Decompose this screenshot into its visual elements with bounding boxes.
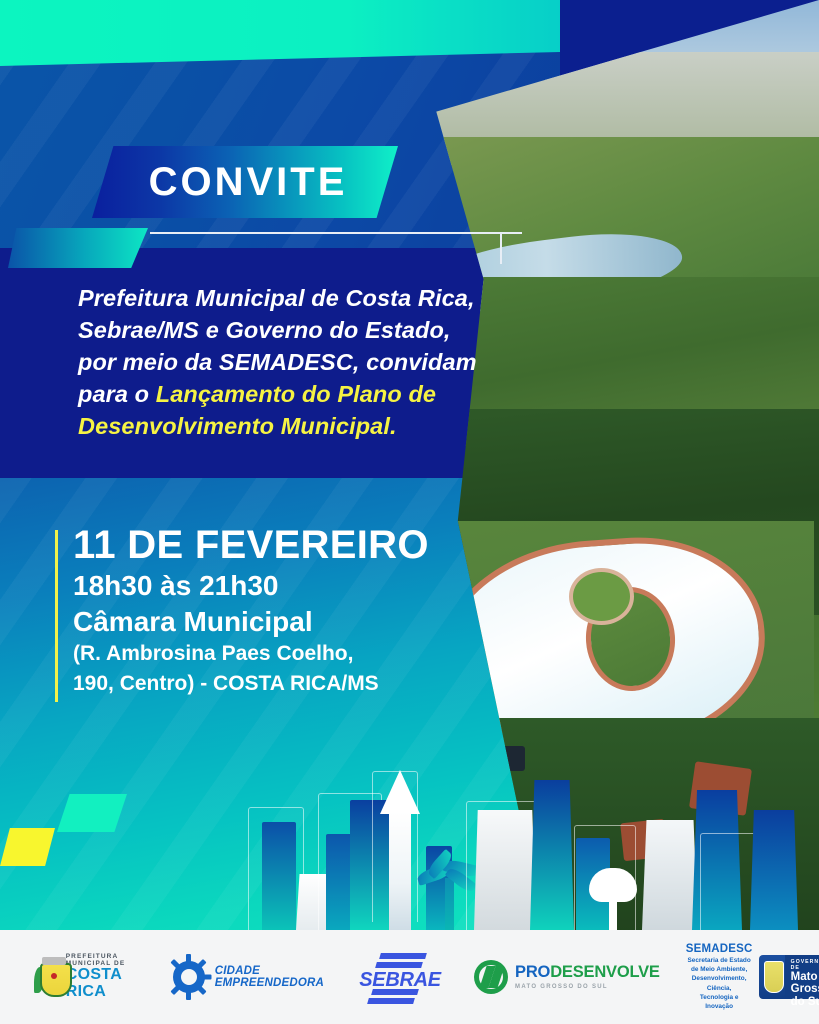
semadesc-sub-4: Tecnologia e Inovação [686, 993, 753, 1011]
semadesc-sub-1: Secretaria de Estado [686, 956, 753, 965]
building [750, 810, 798, 930]
prodesenvolve-des: DESENVOLVE [550, 963, 660, 981]
event-address-line-1: (R. Ambrosina Paes Coelho, [73, 641, 493, 667]
tree-trunk [609, 900, 617, 930]
palm-trunk [445, 878, 454, 930]
building [474, 810, 536, 930]
burst-ray [186, 988, 191, 1000]
semadesc-sub-2: de Meio Ambiente, [686, 965, 753, 974]
semadesc-subtitle: Secretaria de Estado de Meio Ambiente, D… [686, 956, 753, 1011]
ms-crest-shield [764, 961, 784, 993]
prodesenvolve-main: PRODESENVOLVE [515, 964, 660, 981]
divider-rule-vertical [500, 232, 502, 264]
sebrae-bar [367, 998, 415, 1004]
ms-line-3: do Sul [791, 996, 819, 1008]
ce-line-1: CIDADE [215, 965, 324, 977]
prodesenvolve-wordmark: PRODESENVOLVE MATO GROSSO DO SUL [515, 964, 660, 990]
cidade-empreendedora-wordmark: CIDADE EMPREENDEDORA [215, 965, 324, 990]
logo-prefeitura-costa-rica: PREFEITURA MUNICIPAL DE COSTA RICA [34, 953, 137, 1001]
event-venue: Câmara Municipal [73, 605, 493, 639]
logo-row: PREFEITURA MUNICIPAL DE COSTA RICA CIDAD… [0, 930, 819, 1024]
logo-sebrae: SEBRAE [354, 953, 446, 1001]
logo-cidade-empreendedora: CIDADE EMPREENDEDORA [169, 957, 324, 997]
burst-ray [186, 954, 191, 966]
event-address-line-2: 190, Centro) - COSTA RICA/MS [73, 671, 493, 697]
city-skyline-illustration [230, 750, 819, 930]
convite-banner: CONVITE [92, 146, 398, 218]
event-details: 11 DE FEVEREIRO 18h30 às 21h30 Câmara Mu… [73, 524, 493, 697]
prodesenvolve-icon [474, 960, 508, 994]
ms-line-1: Mato [791, 971, 819, 983]
invitation-paragraph: Prefeitura Municipal de Costa Rica, Sebr… [78, 283, 548, 443]
coat-emblem [51, 973, 57, 979]
footer-logo-bar: PREFEITURA MUNICIPAL DE COSTA RICA CIDAD… [0, 930, 819, 1024]
coat-crown [42, 957, 66, 965]
convite-label: CONVITE [92, 146, 398, 218]
prodesenvolve-sub: MATO GROSSO DO SUL [515, 984, 660, 990]
building [530, 780, 574, 930]
tree-canopy [589, 868, 637, 902]
invite-line-3: por meio da SEMADESC, convidam [78, 347, 548, 379]
logo-prodesenvolve: PRODESENVOLVE MATO GROSSO DO SUL [474, 960, 660, 994]
accent-parallelogram-teal [8, 228, 148, 268]
arrow-outline [372, 771, 418, 922]
semadesc-sub-3: Desenvolvimento, Ciência, [686, 974, 753, 992]
event-time: 18h30 às 21h30 [73, 569, 493, 603]
invite-line-1: Prefeitura Municipal de Costa Rica, [78, 283, 548, 315]
photo-pool-island [569, 568, 634, 625]
ms-wordmark: GOVERNO DE Mato Grosso do Sul [785, 955, 819, 999]
invite-line-4: para o Lançamento do Plano de [78, 379, 548, 411]
burst-ray [170, 959, 182, 971]
invitation-poster: CONVITE Prefeitura Municipal de Costa Ri… [0, 0, 819, 1024]
yellow-accent-bar [55, 530, 58, 702]
coat-shield [40, 963, 72, 997]
prefeitura-main-text: COSTA RICA [66, 967, 137, 1001]
event-date: 11 DE FEVEREIRO [73, 524, 493, 567]
burst-ring-icon [169, 957, 209, 997]
governo-ms-logo: GOVERNO DE Mato Grosso do Sul [759, 955, 819, 999]
sebrae-bar [375, 962, 423, 968]
burst-ray [199, 975, 211, 980]
tree-icon [585, 868, 641, 930]
ms-governo-label: GOVERNO DE [791, 959, 819, 971]
divider-rule [150, 232, 522, 234]
invite-line-5-highlight: Desenvolvimento Municipal. [78, 411, 548, 443]
prefeitura-top-text: PREFEITURA MUNICIPAL DE [66, 953, 137, 967]
burst-ray [194, 983, 206, 995]
ms-crest-icon [759, 955, 785, 999]
building [642, 820, 698, 930]
invite-line-2: Sebrae/MS e Governo do Estado, [78, 315, 548, 347]
sebrae-bar [379, 953, 427, 959]
sebrae-bar [371, 989, 419, 995]
logo-semadesc-governo-ms: SEMADESC Secretaria de Estado de Meio Am… [686, 943, 819, 1011]
ms-line-2: Grosso [791, 983, 819, 995]
invite-line-4-plain: para o [78, 381, 156, 407]
prodesenvolve-pro: PRO [515, 963, 550, 981]
semadesc-wordmark: SEMADESC Secretaria de Estado de Meio Am… [686, 943, 753, 1011]
ce-line-2: EMPREENDEDORA [215, 977, 324, 989]
semadesc-title: SEMADESC [686, 943, 753, 955]
sebrae-mark: SEBRAE [354, 953, 446, 1001]
coat-of-arms-icon [34, 955, 59, 999]
invite-line-4-highlight: Lançamento do Plano de [156, 381, 436, 407]
prefeitura-wordmark: PREFEITURA MUNICIPAL DE COSTA RICA [66, 953, 137, 1001]
building [262, 822, 296, 930]
